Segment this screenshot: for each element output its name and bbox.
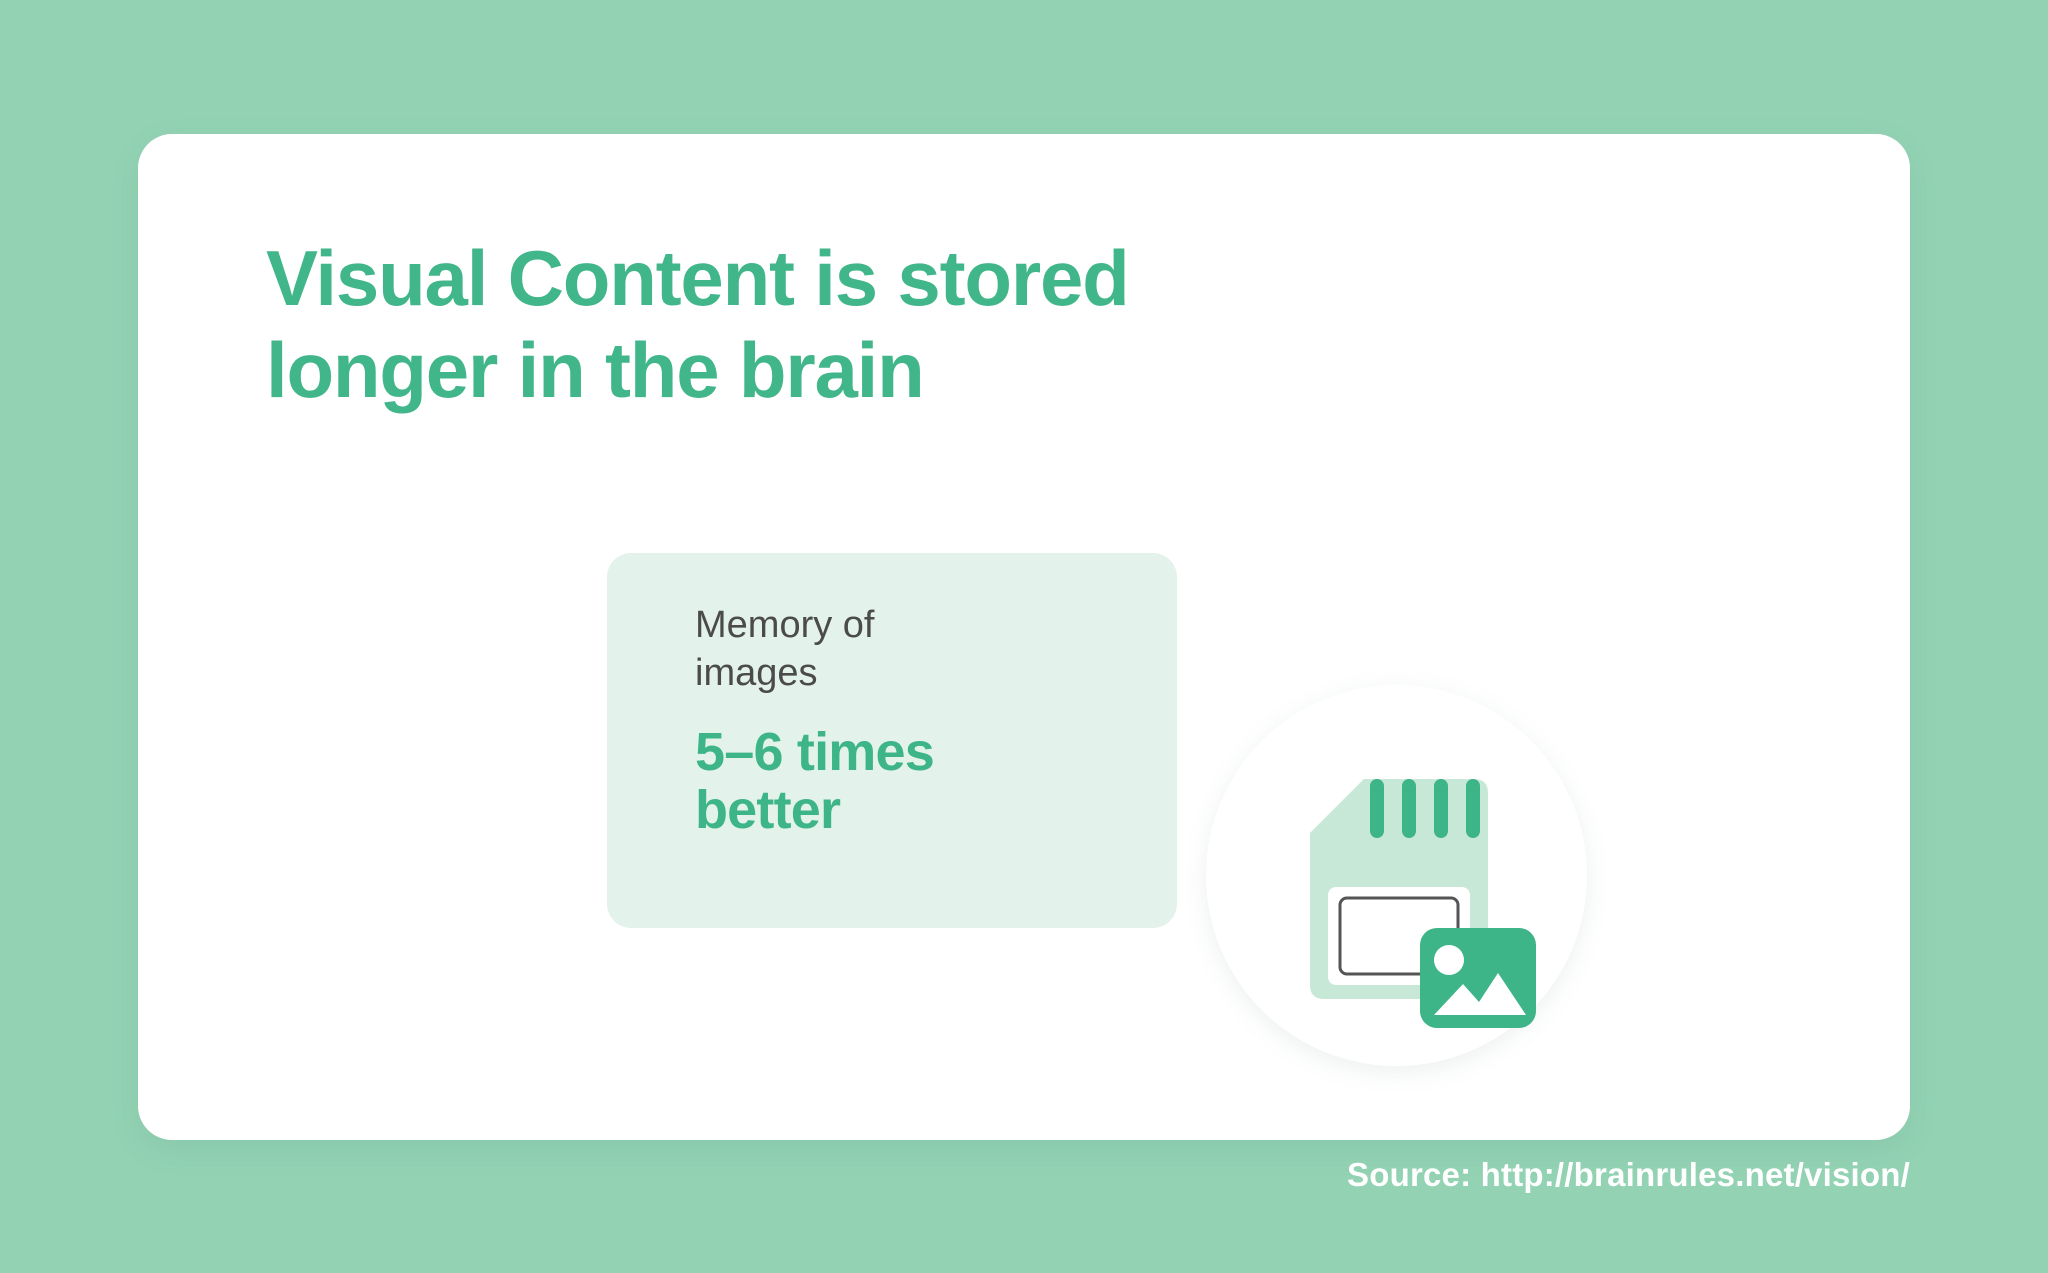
source-attribution: Source: http://brainrules.net/vision/ [1347,1156,1910,1194]
memory-card-pin-2 [1402,779,1416,838]
page-title: Visual Content is stored longer in the b… [266,232,1466,416]
photo-icon-sun [1434,945,1464,975]
content-card: Visual Content is stored longer in the b… [138,134,1910,1140]
photo-icon [1420,928,1536,1028]
illustration-container [1206,685,1587,1066]
memory-card-with-photo-icon [1206,685,1587,1066]
stat-text-group: Memory of images 5–6 times better [695,601,1115,839]
memory-card-pin-4 [1466,779,1480,838]
memory-card-pin-3 [1434,779,1448,838]
memory-card-pin-1 [1370,779,1384,838]
stat-value: 5–6 times better [695,723,1115,839]
stat-label: Memory of images [695,601,1115,697]
slide-root: Visual Content is stored longer in the b… [0,0,2048,1273]
